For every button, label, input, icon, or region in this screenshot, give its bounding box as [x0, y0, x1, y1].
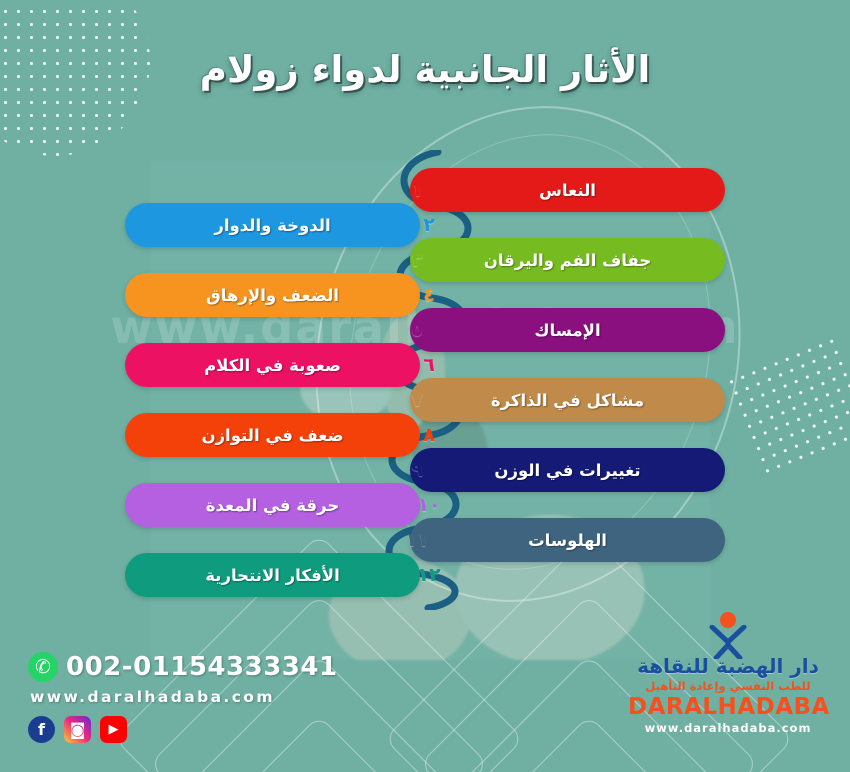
side-effect-bar: حرقة في المعدة	[125, 483, 420, 527]
side-effect-bar: جفاف الفم واليرقان	[410, 238, 725, 282]
side-effect-label: حرقة في المعدة	[206, 496, 339, 515]
side-effect-label: الهلوسات	[528, 531, 607, 550]
side-effect-bar: الهلوسات	[410, 518, 725, 562]
dot-pattern-right	[724, 334, 850, 481]
whatsapp-icon[interactable]: ✆	[28, 652, 58, 682]
phone-number: 002-01154333341	[66, 652, 338, 682]
footer-contact: ✆ 002-01154333341 www.daralhadaba.com f …	[28, 652, 368, 743]
youtube-icon[interactable]: ▶	[100, 716, 127, 743]
side-effect-label: جفاف الفم واليرقان	[484, 251, 651, 270]
side-effect-number: ٣	[400, 243, 434, 277]
side-effect-number: ١٢	[412, 558, 446, 592]
logo-website: www.daralhadaba.com	[628, 721, 828, 735]
side-effect-label: الدوخة والدوار	[214, 216, 330, 235]
footer-website[interactable]: www.daralhadaba.com	[30, 688, 368, 706]
instagram-icon[interactable]: ◙	[64, 716, 91, 743]
side-effect-number: ٧	[400, 383, 434, 417]
facebook-icon[interactable]: f	[28, 716, 55, 743]
page-title: الأثار الجانبية لدواء زولام	[0, 48, 850, 91]
side-effect-label: الإمساك	[534, 321, 600, 340]
side-effect-label: الضعف والإرهاق	[206, 286, 339, 305]
side-effect-number: ٩	[400, 453, 434, 487]
side-effect-bar: النعاس	[410, 168, 725, 212]
side-effect-number: ٦	[412, 348, 446, 382]
side-effect-label: الأفكار الانتحارية	[205, 566, 339, 585]
side-effect-number: ١	[400, 173, 434, 207]
phone-row: ✆ 002-01154333341	[28, 652, 368, 682]
side-effect-label: تغييرات في الوزن	[494, 461, 640, 480]
side-effect-number: ٢	[412, 208, 446, 242]
side-effect-number: ٨	[412, 418, 446, 452]
side-effect-label: صعوبة في الكلام	[204, 356, 341, 375]
side-effect-bar: ضعف في التوازن	[125, 413, 420, 457]
infographic-canvas: www.daralhadaba.com الأثار الجانبية لدوا…	[0, 0, 850, 772]
side-effect-label: مشاكل في الذاكرة	[491, 391, 644, 410]
side-effect-label: النعاس	[539, 181, 596, 200]
side-effect-bar: الأفكار الانتحارية	[125, 553, 420, 597]
logo-arabic-secondary: للطب النفسي وإعادة التأهيل	[628, 679, 828, 693]
side-effect-bar: مشاكل في الذاكرة	[410, 378, 725, 422]
logo-english: DARALHADABA	[628, 694, 828, 720]
side-effect-bar: الإمساك	[410, 308, 725, 352]
side-effect-bar: الضعف والإرهاق	[125, 273, 420, 317]
side-effect-bar: تغييرات في الوزن	[410, 448, 725, 492]
side-effect-bar: صعوبة في الكلام	[125, 343, 420, 387]
side-effect-number: ١٠	[412, 488, 446, 522]
brand-logo[interactable]: دار الهضبة للنقاهة للطب النفسي وإعادة ال…	[628, 612, 828, 735]
side-effect-number: ١١	[400, 523, 434, 557]
side-effect-number: ٤	[412, 278, 446, 312]
side-effect-number: ٥	[400, 313, 434, 347]
side-effect-bar: الدوخة والدوار	[125, 203, 420, 247]
social-links: f ◙ ▶	[28, 716, 368, 743]
logo-figure-icon	[628, 612, 828, 656]
side-effect-label: ضعف في التوازن	[201, 426, 343, 445]
